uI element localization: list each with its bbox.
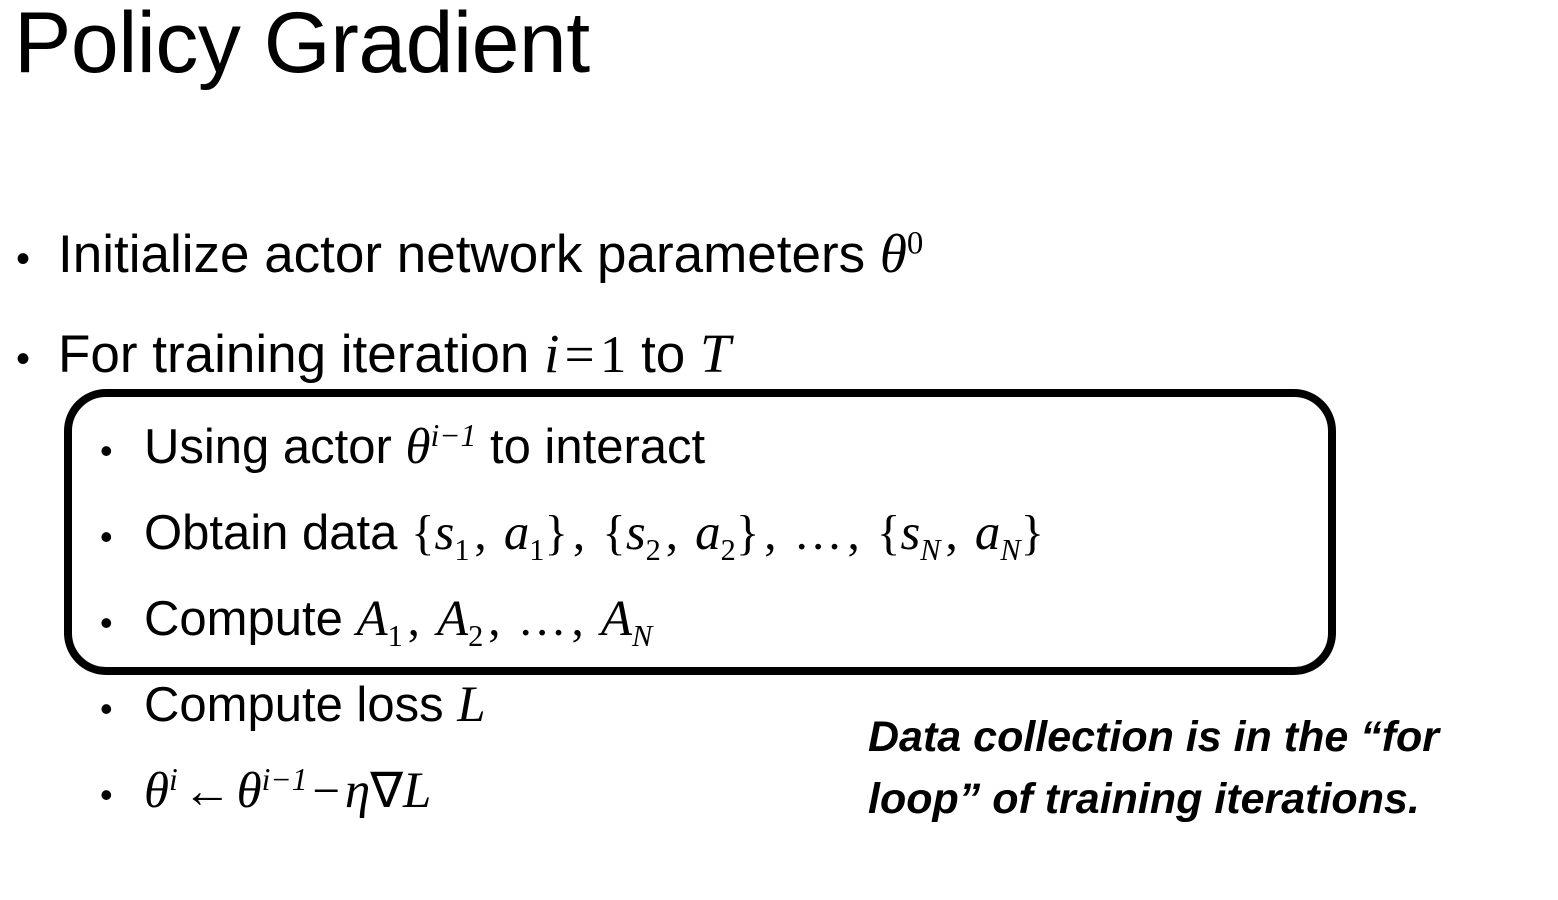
theta-symbol: θ: [880, 223, 907, 284]
bullet-compute-loss-text: Compute loss L: [144, 676, 486, 734]
bullet-gradient-update-text: θi←θi−1−η∇L: [144, 762, 431, 820]
state-symbol-1: s: [435, 505, 455, 561]
compute-advantage-label: Compute: [144, 592, 356, 646]
action-symbol-n: a: [975, 505, 1000, 561]
list-comma: ,: [567, 591, 601, 646]
bullet-using-actor: • Using actor θi−1 to interact: [100, 418, 705, 476]
annotation-note: Data collection is in the “for loop” of …: [868, 706, 1548, 831]
action-symbol-1: a: [504, 505, 529, 561]
close-brace: }: [544, 505, 568, 560]
state-index-2: 2: [646, 533, 661, 567]
loss-symbol: L: [457, 677, 485, 733]
pair-comma: ,: [941, 505, 975, 560]
list-comma: ,: [843, 505, 877, 560]
initialize-label: Initialize actor network parameters: [58, 225, 880, 284]
state-symbol-2: s: [626, 505, 646, 561]
using-actor-label: Using actor: [144, 420, 405, 474]
bullet-initialize-actor: • Initialize actor network parameters θ0: [16, 222, 923, 285]
minus-operator: −: [308, 763, 345, 818]
bullet-dot-icon: •: [100, 605, 144, 641]
bullet-compute-loss: • Compute loss L: [100, 676, 486, 734]
bullet-dot-icon: •: [100, 519, 144, 555]
page-title: Policy Gradient: [14, 0, 590, 93]
action-index-1: 1: [529, 533, 544, 567]
state-symbol-n: s: [900, 505, 920, 561]
bullet-for-loop-text: For training iteration i=1 to T: [58, 322, 731, 385]
list-comma: ,: [403, 591, 437, 646]
open-brace: {: [411, 505, 435, 560]
state-index-n: N: [920, 533, 940, 567]
list-comma: ,: [568, 505, 602, 560]
iteration-index-symbol: i: [544, 323, 559, 384]
nabla-icon: ∇: [370, 763, 403, 818]
bullet-compute-advantage-text: Compute A1, A2, …, AN: [144, 590, 652, 648]
using-actor-suffix: to interact: [476, 420, 705, 474]
bullet-dot-icon: •: [100, 433, 144, 469]
theta-new-superscript: i: [169, 762, 178, 797]
theta-superscript: 0: [907, 225, 923, 261]
iteration-start-value: 1: [600, 326, 627, 384]
annotation-line-2: loop” of training iterations.: [868, 768, 1548, 830]
loss-symbol: L: [403, 763, 431, 819]
state-index-1: 1: [454, 533, 469, 567]
bullet-compute-advantage: • Compute A1, A2, …, AN: [100, 590, 652, 648]
close-brace: }: [736, 505, 760, 560]
open-brace: {: [877, 505, 901, 560]
iteration-end-symbol: T: [700, 323, 731, 384]
advantage-index-1: 1: [388, 619, 403, 653]
advantage-symbol-n: A: [601, 591, 632, 647]
theta-superscript: i−1: [430, 418, 476, 453]
bullet-for-training-iteration: • For training iteration i=1 to T: [16, 322, 731, 385]
list-comma: ,: [759, 505, 793, 560]
theta-symbol: θ: [405, 419, 430, 475]
list-comma: ,: [483, 591, 517, 646]
open-brace: {: [602, 505, 626, 560]
to-label: to: [626, 325, 700, 384]
advantage-symbol-1: A: [356, 591, 387, 647]
compute-loss-label: Compute loss: [144, 678, 457, 732]
assignment-arrow-icon: ←: [178, 763, 237, 818]
bullet-using-actor-text: Using actor θi−1 to interact: [144, 418, 705, 476]
bullet-dot-icon: •: [16, 239, 58, 279]
advantage-index-n: N: [632, 619, 652, 653]
bullet-initialize-text: Initialize actor network parameters θ0: [58, 222, 923, 285]
for-loop-label: For training iteration: [58, 325, 544, 384]
theta-old-symbol: θ: [237, 763, 262, 819]
annotation-line-1: Data collection is in the “for: [868, 706, 1548, 768]
bullet-dot-icon: •: [100, 691, 144, 727]
pair-comma: ,: [661, 505, 695, 560]
bullet-dot-icon: •: [16, 339, 58, 379]
theta-new-symbol: θ: [144, 763, 169, 819]
action-index-2: 2: [721, 533, 736, 567]
advantage-symbol-2: A: [437, 591, 468, 647]
close-brace: }: [1021, 505, 1045, 560]
equals-operator: =: [559, 326, 599, 384]
ellipsis: …: [794, 505, 843, 560]
ellipsis: …: [518, 591, 567, 646]
bullet-obtain-data: • Obtain data {s1, a1}, {s2, a2}, …, {sN…: [100, 504, 1044, 562]
learning-rate-symbol: η: [345, 763, 370, 819]
pair-comma: ,: [470, 505, 504, 560]
action-index-n: N: [1000, 533, 1020, 567]
slide-canvas: Policy Gradient • Initialize actor netwo…: [0, 0, 1558, 900]
theta-old-superscript: i−1: [262, 762, 308, 797]
bullet-gradient-update: • θi←θi−1−η∇L: [100, 762, 431, 820]
bullet-obtain-data-text: Obtain data {s1, a1}, {s2, a2}, …, {sN, …: [144, 504, 1044, 562]
action-symbol-2: a: [695, 505, 720, 561]
bullet-dot-icon: •: [100, 777, 144, 813]
obtain-data-label: Obtain data: [144, 506, 411, 560]
advantage-index-2: 2: [468, 619, 483, 653]
